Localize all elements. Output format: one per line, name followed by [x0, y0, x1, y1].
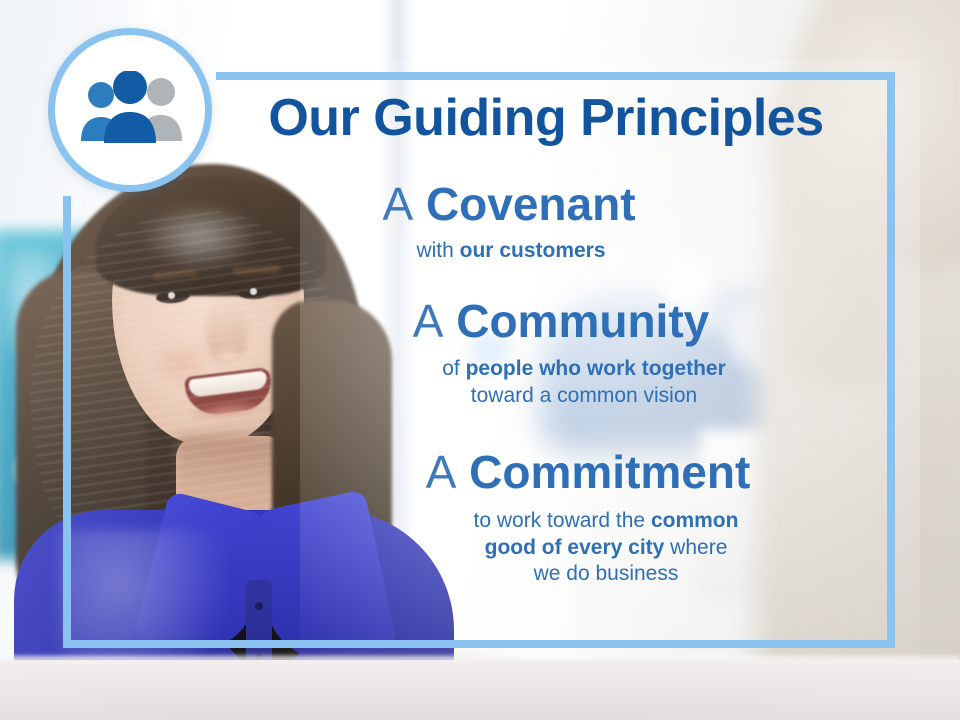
plain-text: of — [442, 357, 465, 380]
principle-subtext-line: with our customers — [200, 238, 822, 265]
principle-heading: A Covenant — [200, 180, 880, 230]
frame-top-border — [216, 72, 895, 80]
plain-text: we do business — [534, 562, 679, 585]
principle-subtext: with our customers — [200, 238, 880, 265]
emphasis-text: our customers — [460, 239, 606, 262]
frame-left-border — [63, 196, 71, 648]
frame-bottom-border — [63, 640, 895, 648]
emphasis-text: good of every city — [485, 536, 665, 559]
principle-subtext-line: toward a common vision — [288, 383, 880, 410]
principle-subtext-line: good of every city where — [332, 535, 880, 562]
guiding-principles-graphic: FLOW FLOW AUTOMOTIVE — [0, 0, 960, 720]
plain-text: toward a common vision — [471, 384, 697, 407]
principle-subtext: to work toward the commongood of every c… — [200, 508, 880, 589]
table-surface — [0, 660, 960, 720]
principle-commitment: A Commitment to work toward the commongo… — [200, 448, 880, 588]
plain-text: to work toward the — [474, 509, 651, 532]
principles-list: A Covenant with our customers A Communit… — [200, 180, 880, 594]
principle-subtext-line: to work toward the common — [332, 508, 880, 535]
principle-article: A — [426, 446, 457, 498]
principle-article: A — [382, 178, 413, 230]
principle-article: A — [413, 295, 444, 347]
principle-keyword: Covenant — [426, 178, 636, 230]
plain-text: with — [416, 239, 459, 262]
emphasis-text: common — [651, 509, 739, 532]
page-title: Our Guiding Principles — [216, 92, 876, 144]
principle-heading: A Commitment — [200, 448, 880, 498]
people-group-icon — [78, 71, 182, 149]
frame-right-border — [887, 72, 895, 648]
principle-heading: A Community — [200, 297, 880, 347]
people-badge — [48, 28, 212, 192]
plain-text: where — [664, 536, 727, 559]
principle-keyword: Community — [456, 295, 709, 347]
principle-community: A Community of people who work togethert… — [200, 297, 880, 410]
principle-subtext-line: of people who work together — [288, 356, 880, 383]
emphasis-text: people who work together — [466, 357, 726, 380]
principle-keyword: Commitment — [469, 446, 750, 498]
principle-subtext-line: we do business — [332, 561, 880, 588]
principle-covenant: A Covenant with our customers — [200, 180, 880, 265]
principle-subtext: of people who work togethertoward a comm… — [200, 356, 880, 410]
shirt-button — [255, 602, 263, 610]
